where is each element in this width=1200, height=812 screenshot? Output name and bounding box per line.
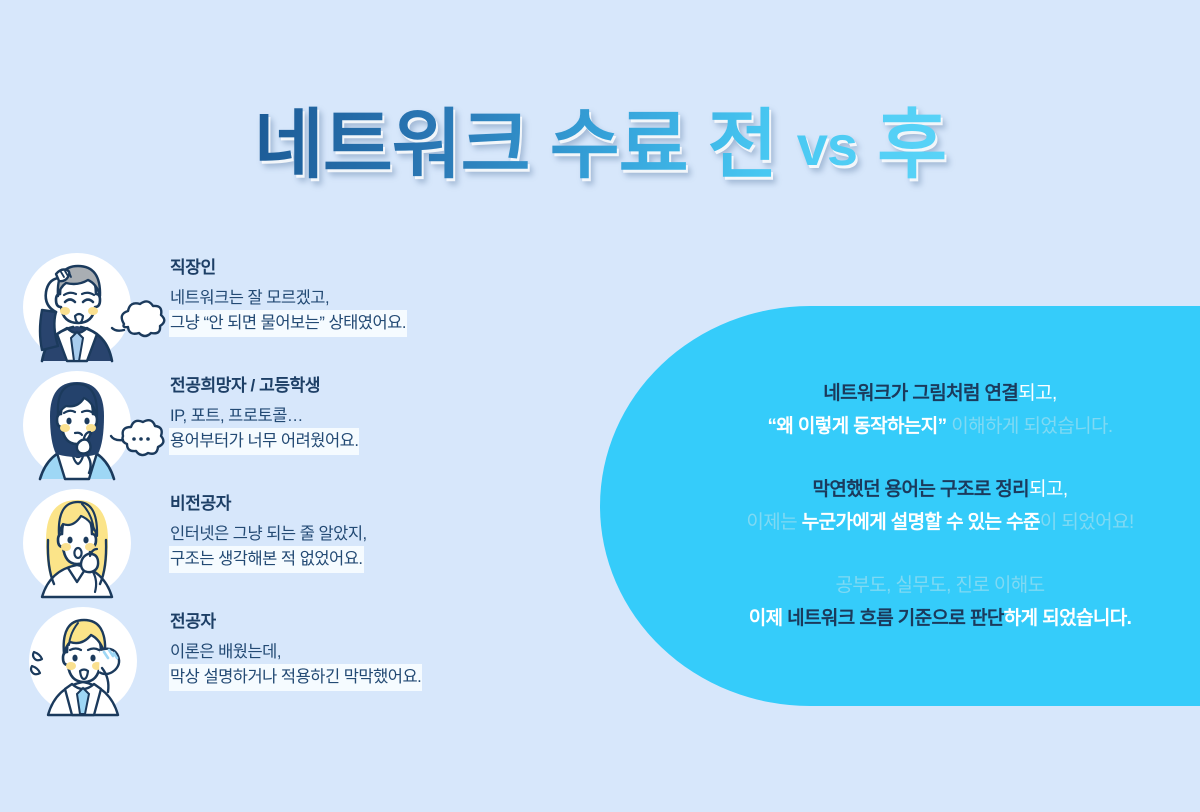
- after-line-lead: 이제: [749, 608, 787, 629]
- after-line-bold: 막연했던 용어는 구조로 정리: [812, 479, 1029, 500]
- list-item-line-2: 용어부터가 너무 어려웠어요.: [170, 429, 358, 454]
- page-title-tail: 후: [877, 103, 946, 188]
- after-block: 공부도, 실무도, 진로 이해도 이제 네트워크 흐름 기준으로 판단하게 되었…: [690, 569, 1190, 635]
- avatar: [20, 606, 170, 718]
- list-item: 비전공자 인터넷은 그냥 되는 줄 알았지, 구조는 생각해본 적 없었어요.: [20, 488, 540, 606]
- list-item-text: 전공자 이론은 배웠는데, 막상 설명하거나 적용하긴 막막했어요.: [170, 606, 540, 690]
- after-line: 네트워크가 그림처럼 연결되고,: [690, 377, 1190, 410]
- office-worker-gray-hair-avatar: [20, 252, 170, 364]
- after-line-bold: 네트워크 흐름 기준으로 판단: [787, 608, 1004, 629]
- avatar: [20, 488, 170, 600]
- after-panel: 네트워크가 그림처럼 연결되고, “왜 이렇게 동작하는지” 이해하게 되었습니…: [600, 306, 1200, 706]
- list-item-title: 비전공자: [170, 494, 540, 514]
- after-line-rest: 이해하게 되었습니다.: [947, 416, 1113, 437]
- list-item-line-1: 네트워크는 잘 모르겠고,: [170, 286, 540, 311]
- after-line: 이제 네트워크 흐름 기준으로 판단하게 되었습니다.: [690, 602, 1190, 635]
- after-line: 공부도, 실무도, 진로 이해도: [690, 569, 1190, 602]
- list-item-text: 비전공자 인터넷은 그냥 되는 줄 알았지, 구조는 생각해본 적 없었어요.: [170, 488, 540, 572]
- before-list: 직장인 네트워크는 잘 모르겠고, 그냥 “안 되면 물어보는” 상태였어요.: [20, 252, 540, 724]
- after-line-lead: 이제는: [746, 512, 801, 533]
- list-item-title: 직장인: [170, 258, 540, 278]
- after-line-bold: 네트워크가 그림처럼 연결: [823, 383, 1018, 404]
- after-block: 막연했던 용어는 구조로 정리되고, 이제는 누군가에게 설명할 수 있는 수준…: [690, 473, 1190, 539]
- after-panel-content: 네트워크가 그림처럼 연결되고, “왜 이렇게 동작하는지” 이해하게 되었습니…: [690, 306, 1190, 706]
- list-item-line-2: 막상 설명하거나 적용하긴 막막했어요.: [170, 665, 421, 690]
- blonde-male-student-avatar: [20, 606, 170, 718]
- after-line-rest: 하게 되었습니다.: [1004, 608, 1132, 629]
- after-line-bold: 누군가에게 설명할 수 있는 수준: [802, 512, 1040, 533]
- list-item-title: 전공희망자 / 고등학생: [170, 376, 540, 396]
- after-line: 이제는 누군가에게 설명할 수 있는 수준이 되었어요!: [690, 506, 1190, 539]
- list-item-line-2: 그냥 “안 되면 물어보는” 상태였어요.: [170, 311, 406, 336]
- list-item-line-2: 구조는 생각해본 적 없었어요.: [170, 547, 363, 572]
- after-line-dim: 공부도, 실무도, 진로 이해도: [835, 575, 1044, 596]
- page-title-vs: vs: [797, 114, 857, 177]
- page-title-main: 네트워크 수료 전: [254, 103, 777, 188]
- after-block: 네트워크가 그림처럼 연결되고, “왜 이렇게 동작하는지” 이해하게 되었습니…: [690, 377, 1190, 443]
- list-item: 전공희망자 / 고등학생 IP, 포트, 프로토콜… 용어부터가 너무 어려웠어…: [20, 370, 540, 488]
- female-student-dark-hair-avatar: [20, 370, 170, 482]
- list-item-text: 전공희망자 / 고등학생 IP, 포트, 프로토콜… 용어부터가 너무 어려웠어…: [170, 370, 540, 454]
- list-item-line-1: 이론은 배웠는데,: [170, 640, 540, 665]
- after-line-rest: 되고,: [1018, 383, 1056, 404]
- list-item: 전공자 이론은 배웠는데, 막상 설명하거나 적용하긴 막막했어요.: [20, 606, 540, 724]
- list-item-line-1: IP, 포트, 프로토콜…: [170, 404, 540, 429]
- list-item-line-1: 인터넷은 그냥 되는 줄 알았지,: [170, 522, 540, 547]
- after-line: 막연했던 용어는 구조로 정리되고,: [690, 473, 1190, 506]
- after-line-rest: 되고,: [1029, 479, 1067, 500]
- blonde-woman-avatar: [20, 488, 170, 600]
- infographic-page: 네트워크 수료 전 vs 후: [0, 0, 1200, 812]
- after-line: “왜 이렇게 동작하는지” 이해하게 되었습니다.: [690, 410, 1190, 443]
- list-item-title: 전공자: [170, 612, 540, 632]
- page-title: 네트워크 수료 전 vs 후: [254, 96, 946, 196]
- list-item-text: 직장인 네트워크는 잘 모르겠고, 그냥 “안 되면 물어보는” 상태였어요.: [170, 252, 540, 336]
- after-line-quote: “왜 이렇게 동작하는지”: [767, 416, 946, 437]
- after-line-rest: 이 되었어요!: [1040, 512, 1134, 533]
- avatar: [20, 370, 170, 482]
- list-item: 직장인 네트워크는 잘 모르겠고, 그냥 “안 되면 물어보는” 상태였어요.: [20, 252, 540, 370]
- avatar: [20, 252, 170, 364]
- page-title-container: 네트워크 수료 전 vs 후: [0, 96, 1200, 206]
